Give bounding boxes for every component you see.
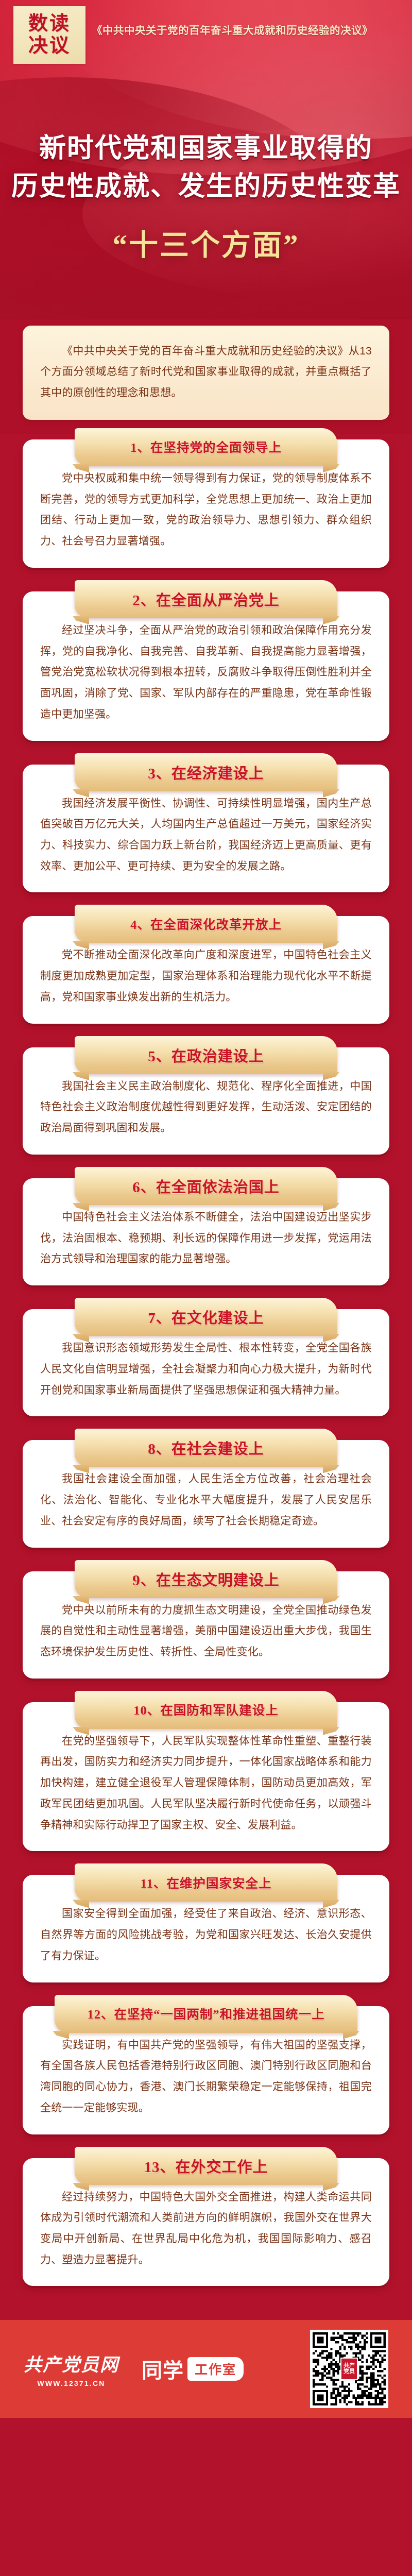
series-badge-line2: 决议 xyxy=(28,35,71,57)
aspect-card-body: 党不断推动全面深化改革向广度和深度进军，中国特色社会主义制度更加成熟更加定型，国… xyxy=(40,945,372,1008)
aspect-card-body: 国家安全得到全面加强，经受住了来自政治、经济、意识形态、自然界等方面的风险挑战考… xyxy=(40,1904,372,1967)
hero-header: 数读 决议 《中共中央关于党的百年奋斗重大成就和历史经验的决议》 新时代党和国家… xyxy=(0,0,412,319)
aspect-card-body: 我国经济发展平衡性、协调性、可持续性明显增强，国内生产总值突破百万亿元大关，人均… xyxy=(40,793,372,877)
aspect-card-title: 7、在文化建设上 xyxy=(148,1306,264,1328)
aspect-card: 1、在坚持党的全面领导上党中央权威和集中统一领导得到有力保证，党的领导制度体系不… xyxy=(23,439,389,568)
aspect-card: 10、在国防和军队建设上在党的坚强领导下，人民军队实现整体性革命性重塑、重整行装… xyxy=(23,1702,389,1852)
aspect-card-body: 在党的坚强领导下，人民军队实现整体性革命性重塑、重整行装再出发，国防实力和经济实… xyxy=(40,1731,372,1836)
aspect-card-body: 经过持续努力，中国特色大国外交全面推进，构建人类命运共同体成为引领时代潮流和人类… xyxy=(40,2187,372,2271)
page-title-line2: 历史性成就、发生的历史性变革 xyxy=(0,168,412,206)
series-badge-line1: 数读 xyxy=(28,13,71,35)
logo-12371-name: 共产党员网 xyxy=(24,2350,119,2377)
aspect-card-title: 2、在全面从严治党上 xyxy=(132,588,280,610)
aspect-card-ribbon: 3、在经济建设上 xyxy=(75,753,337,791)
aspect-card: 2、在全面从严治党上经过坚决斗争，全面从严治党的政治引领和政治保障作用充分发挥，… xyxy=(23,591,389,741)
aspect-card-title: 6、在全面依法治国上 xyxy=(132,1175,280,1197)
aspect-card-title: 10、在国防和军队建设上 xyxy=(133,1701,279,1719)
aspect-card-ribbon: 1、在坚持党的全面领导上 xyxy=(75,428,337,466)
aspect-card-ribbon: 5、在政治建设上 xyxy=(75,1036,337,1074)
logo-12371-url: WWW.12371.CN xyxy=(37,2379,105,2387)
aspect-card-ribbon: 4、在全面深化改革开放上 xyxy=(75,905,337,943)
qr-code-center-logo: 共产党员 xyxy=(340,2358,358,2380)
aspect-card-body: 实践证明，有中国共产党的坚强领导，有伟大祖国的坚强支撑，有全国各族人民包括香港特… xyxy=(40,2035,372,2119)
aspect-card-ribbon: 9、在生态文明建设上 xyxy=(75,1560,337,1598)
footer-logo-group: 共产党员网 WWW.12371.CN 同学 工作室 xyxy=(24,2350,310,2387)
aspect-card: 9、在生态文明建设上党中央以前所未有的力度抓生态文明建设，全党全国推动绿色发展的… xyxy=(23,1571,389,1679)
aspect-card-title: 12、在坚持“一国两制”和推进祖国统一上 xyxy=(88,2005,325,2023)
aspect-card-body: 我国社会建设全面加强，人民生活全方位改善，社会治理社会化、法治化、智能化、专业化… xyxy=(40,1469,372,1532)
document-subtitle: 《中共中央关于党的百年奋斗重大成就和历史经验的决议》 xyxy=(92,22,401,37)
aspect-card: 11、在维护国家安全上国家安全得到全面加强，经受住了来自政治、经济、意识形态、自… xyxy=(23,1875,389,1982)
aspect-card-ribbon: 2、在全面从严治党上 xyxy=(75,580,337,618)
aspect-card-title: 8、在社会建设上 xyxy=(148,1437,264,1459)
aspect-card: 13、在外交工作上经过持续努力，中国特色大国外交全面推进，构建人类命运共同体成为… xyxy=(23,2158,389,2286)
infographic-poster: 数读 决议 《中共中央关于党的百年奋斗重大成就和历史经验的决议》 新时代党和国家… xyxy=(0,0,412,2576)
intro-text: 《中共中央关于党的百年奋斗重大成就和历史经验的决议》从13个方面分领域总结了新时… xyxy=(40,341,372,403)
intro-section: 《中共中央关于党的百年奋斗重大成就和历史经验的决议》从13个方面分领域总结了新时… xyxy=(0,319,412,434)
aspect-card-list: 1、在坚持党的全面领导上党中央权威和集中统一领导得到有力保证，党的领导制度体系不… xyxy=(0,434,412,2320)
aspect-card-title: 1、在坚持党的全面领导上 xyxy=(130,438,282,456)
aspect-card-title: 5、在政治建设上 xyxy=(148,1044,264,1066)
page-title: 新时代党和国家事业取得的 历史性成就、发生的历史性变革 xyxy=(0,130,412,206)
aspect-card-title: 9、在生态文明建设上 xyxy=(132,1568,280,1590)
aspect-card-ribbon: 11、在维护国家安全上 xyxy=(75,1863,337,1902)
aspect-card: 12、在坚持“一国两制”和推进祖国统一上实践证明，有中国共产党的坚强领导，有伟大… xyxy=(23,2006,389,2134)
aspect-card-title: 13、在外交工作上 xyxy=(144,2155,268,2177)
aspect-card-body: 经过坚决斗争，全面从严治党的政治引领和政治保障作用充分发挥，党的自我净化、自我完… xyxy=(40,620,372,725)
aspect-card-ribbon: 8、在社会建设上 xyxy=(75,1429,337,1467)
aspect-card-title: 11、在维护国家安全上 xyxy=(141,1874,272,1892)
intro-card: 《中共中央关于党的百年奋斗重大成就和历史经验的决议》从13个方面分领域总结了新时… xyxy=(23,326,389,420)
series-badge: 数读 决议 xyxy=(13,6,85,64)
aspect-card-ribbon: 10、在国防和军队建设上 xyxy=(75,1691,337,1729)
aspect-card: 5、在政治建设上我国社会主义民主政治制度化、规范化、程序化全面推进，中国特色社会… xyxy=(23,1047,389,1155)
aspect-card-title: 4、在全面深化改革开放上 xyxy=(130,915,282,933)
aspect-card-body: 中国特色社会主义法治体系不断健全，法治中国建设迈出坚实步伐，法治固根本、稳预期、… xyxy=(40,1207,372,1270)
page-title-highlight: “十三个方面” xyxy=(0,222,412,264)
hero-arc-decoration xyxy=(31,0,412,139)
aspect-card: 8、在社会建设上我国社会建设全面加强，人民生活全方位改善，社会治理社会化、法治化… xyxy=(23,1440,389,1547)
aspect-card-ribbon: 7、在文化建设上 xyxy=(75,1298,337,1336)
aspect-card-body: 党中央权威和集中统一领导得到有力保证，党的领导制度体系不断完善，党的领导方式更加… xyxy=(40,468,372,552)
aspect-card-ribbon: 12、在坚持“一国两制”和推进祖国统一上 xyxy=(55,1995,357,2033)
aspect-card: 7、在文化建设上我国意识形态领域形势发生全局性、根本性转变，全党全国各族人民文化… xyxy=(23,1309,389,1416)
aspect-card-body: 我国社会主义民主政治制度化、规范化、程序化全面推进，中国特色社会主义政治制度优越… xyxy=(40,1076,372,1139)
qr-code[interactable]: 共产党员 xyxy=(310,2330,388,2408)
page-title-line1: 新时代党和国家事业取得的 xyxy=(0,130,412,168)
aspect-card-body: 党中央以前所未有的力度抓生态文明建设，全党全国推动绿色发展的自觉性和主动性显著增… xyxy=(40,1600,372,1663)
aspect-card: 6、在全面依法治国上中国特色社会主义法治体系不断健全，法治中国建设迈出坚实步伐，… xyxy=(23,1178,389,1285)
aspect-card: 4、在全面深化改革开放上党不断推动全面深化改革向广度和深度进军，中国特色社会主义… xyxy=(23,916,389,1023)
aspect-card-title: 3、在经济建设上 xyxy=(148,761,264,783)
logo-studio-pill: 工作室 xyxy=(187,2357,244,2381)
logo-studio[interactable]: 同学 工作室 xyxy=(142,2354,244,2384)
aspect-card: 3、在经济建设上我国经济发展平衡性、协调性、可持续性明显增强，国内生产总值突破百… xyxy=(23,765,389,893)
aspect-card-ribbon: 6、在全面依法治国上 xyxy=(75,1167,337,1205)
footer-bar: 共产党员网 WWW.12371.CN 同学 工作室 共产党员 xyxy=(0,2320,412,2418)
aspect-card-ribbon: 13、在外交工作上 xyxy=(75,2147,337,2185)
logo-studio-name: 同学 xyxy=(142,2354,184,2384)
logo-12371[interactable]: 共产党员网 WWW.12371.CN xyxy=(24,2350,119,2387)
aspect-card-body: 我国意识形态领域形势发生全局性、根本性转变，全党全国各族人民文化自信明显增强，全… xyxy=(40,1338,372,1401)
